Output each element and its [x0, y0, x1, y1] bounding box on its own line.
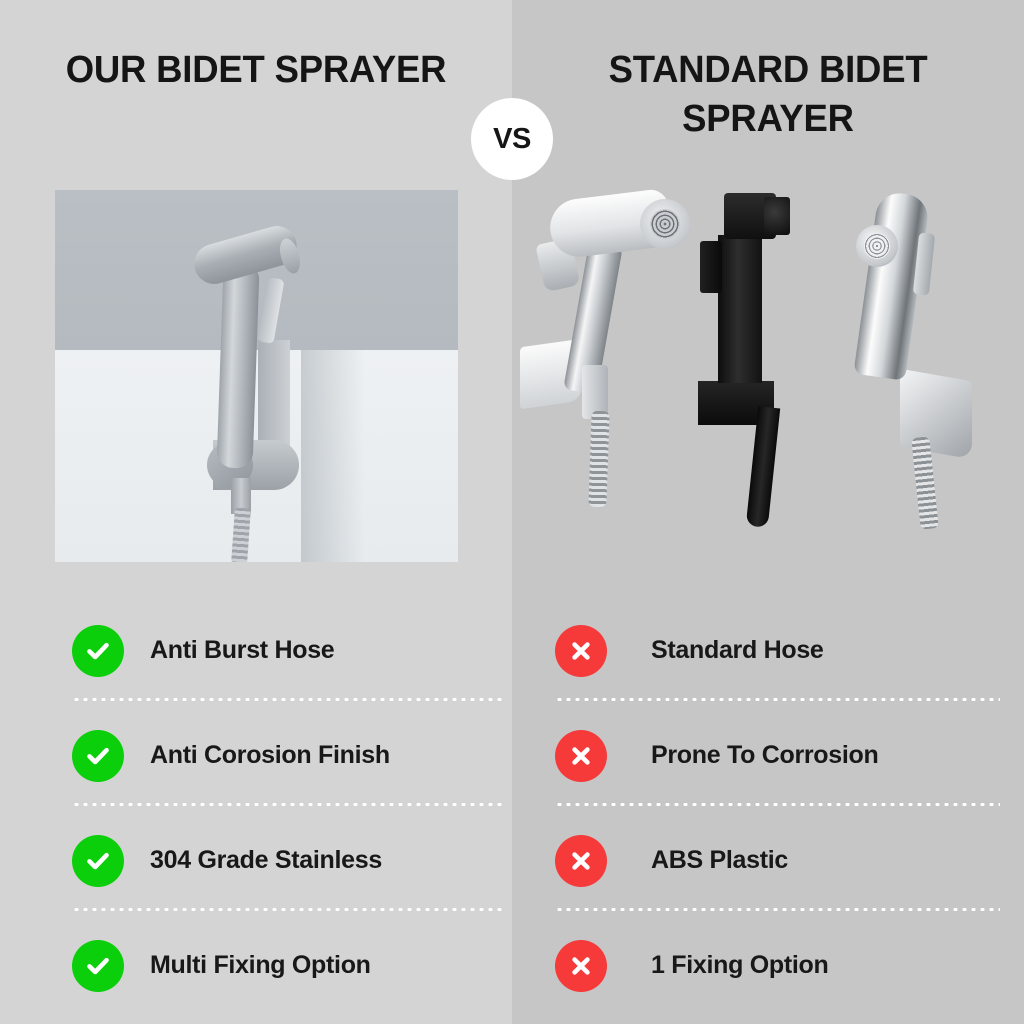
feature-label: ABS Plastic: [651, 846, 788, 875]
feature-cell-ours: Multi Fixing Option: [72, 913, 502, 1018]
feature-row: Anti Burst Hose Standard Hose: [0, 598, 1024, 703]
feature-label: Anti Burst Hose: [150, 636, 334, 665]
row-separator: [72, 698, 502, 701]
feature-label: 1 Fixing Option: [651, 951, 828, 980]
feature-row: Anti Corosion Finish Prone To Corrosion: [0, 703, 1024, 808]
feature-cell-standard: ABS Plastic: [555, 808, 1000, 913]
row-separator: [555, 908, 1000, 911]
feature-label: Multi Fixing Option: [150, 951, 371, 980]
feature-cell-ours: Anti Burst Hose: [72, 598, 502, 703]
row-separator: [72, 908, 502, 911]
feature-cell-standard: 1 Fixing Option: [555, 913, 1000, 1018]
chrome-sprayer-hose: [588, 411, 609, 508]
check-icon: [72, 835, 124, 887]
our-bidet-sprayer-photo: [55, 190, 458, 562]
cross-icon: [555, 940, 607, 992]
check-icon: [72, 940, 124, 992]
cross-icon: [555, 625, 607, 677]
feature-label: Standard Hose: [651, 636, 824, 665]
feature-comparison-list: Anti Burst Hose Standard Hose: [0, 598, 1024, 1018]
feature-cell-ours: Anti Corosion Finish: [72, 703, 502, 808]
row-separator: [555, 698, 1000, 701]
row-separator: [72, 803, 502, 806]
feature-label: Prone To Corrosion: [651, 741, 878, 770]
feature-label: 304 Grade Stainless: [150, 846, 382, 875]
feature-cell-standard: Standard Hose: [555, 598, 1000, 703]
sprayer-body: [217, 267, 260, 468]
cross-icon: [555, 730, 607, 782]
black-sprayer-body: [718, 235, 762, 383]
check-icon: [72, 625, 124, 677]
check-icon: [72, 730, 124, 782]
feature-row: Multi Fixing Option 1 Fixing Option: [0, 913, 1024, 1018]
black-sprayer-trigger: [700, 241, 722, 293]
comparison-infographic: OUR BIDET SPRAYER STANDARD BIDET SPRAYER…: [0, 0, 1024, 1024]
cylinder-sprayer-holder: [900, 369, 972, 460]
vs-badge-label: VS: [493, 123, 531, 156]
feature-cell-ours: 304 Grade Stainless: [72, 808, 502, 913]
feature-row: 304 Grade Stainless ABS Plastic: [0, 808, 1024, 913]
feature-cell-standard: Prone To Corrosion: [555, 703, 1000, 808]
right-column-heading: STANDARD BIDET SPRAYER: [557, 46, 979, 143]
vs-badge: VS: [471, 98, 553, 180]
black-sprayer-head-cap: [764, 197, 790, 235]
feature-label: Anti Corosion Finish: [150, 741, 390, 770]
photo-shadow: [301, 350, 365, 562]
cross-icon: [555, 835, 607, 887]
left-column-heading: OUR BIDET SPRAYER: [45, 46, 467, 95]
row-separator: [555, 803, 1000, 806]
standard-bidet-sprayers-photo: [512, 185, 1024, 565]
cylinder-sprayer-nozzle-face: [864, 233, 890, 259]
